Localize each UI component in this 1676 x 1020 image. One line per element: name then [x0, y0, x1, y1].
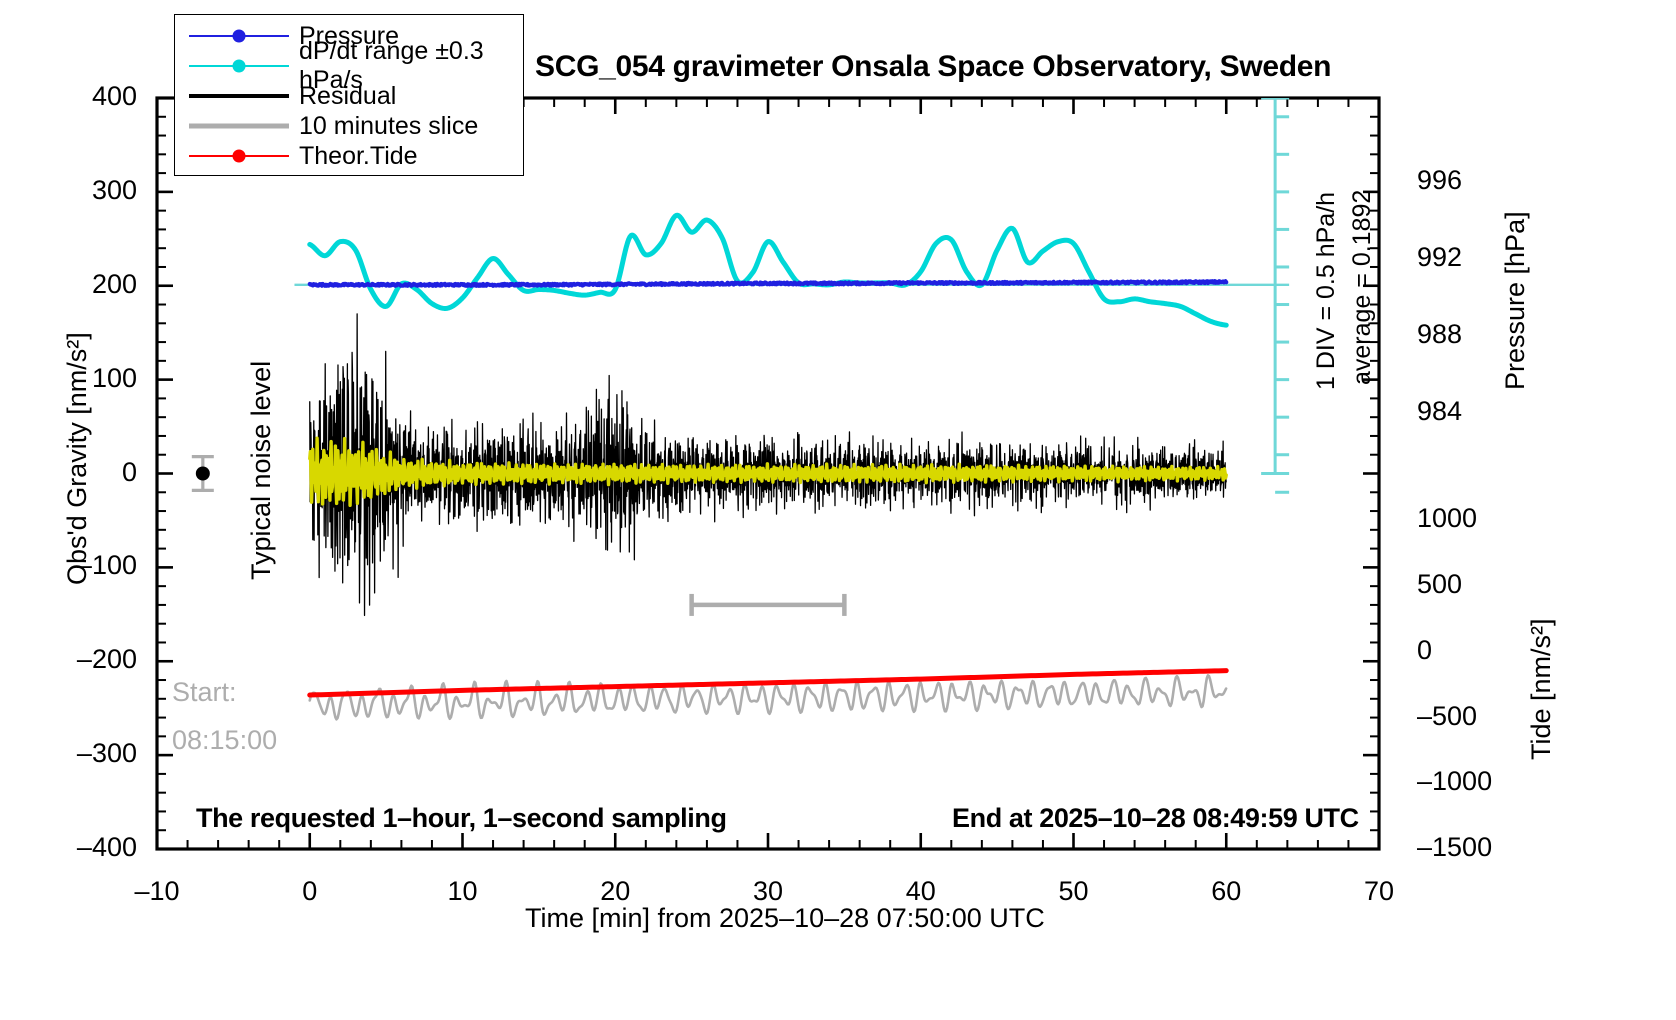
x-tick-label-1: 0 — [302, 876, 317, 907]
y-pressure-tick-label-1: 992 — [1417, 242, 1462, 273]
legend-label-2: Residual — [299, 82, 396, 111]
start-time: 08:15:00 — [172, 725, 277, 756]
y-left-tick-label-2: 200 — [92, 269, 137, 300]
y-left-tick-label-0: 400 — [92, 81, 137, 112]
x-tick-label-7: 60 — [1211, 876, 1241, 907]
y-pressure-tick-label-3: 984 — [1417, 396, 1462, 427]
legend-item-3: 10 minutes slice — [189, 111, 523, 141]
series-dpdt — [310, 215, 1227, 325]
legend-dot-icon — [233, 60, 246, 73]
y-left-axis-title: Obs'd Gravity [nm/s²] — [62, 332, 93, 585]
y-left-tick-label-3: 100 — [92, 363, 137, 394]
x-tick-label-6: 50 — [1058, 876, 1088, 907]
legend-dot-icon — [233, 150, 246, 163]
y-left-tick-label-7: –300 — [77, 738, 137, 769]
legend-line-icon — [189, 124, 289, 129]
series-pressure — [310, 281, 1227, 286]
y-right-tide-title: Tide [nm/s²] — [1526, 618, 1557, 760]
sampling-note: The requested 1–hour, 1–second sampling — [196, 803, 727, 834]
chart-title: SCG_054 gravimeter Onsala Space Observat… — [535, 50, 1331, 84]
y-pressure-tick-label-0: 996 — [1417, 165, 1462, 196]
y-tide-tick-label-4: –1000 — [1417, 766, 1492, 797]
y-tide-tick-label-2: 0 — [1417, 635, 1432, 666]
y-tide-tick-label-0: 1000 — [1417, 503, 1477, 534]
gravimeter-chart: –100102030405060704003002001000–100–200–… — [0, 0, 1676, 1020]
legend-item-4: Theor.Tide — [189, 141, 523, 171]
y-right-pressure-title: Pressure [hPa] — [1500, 211, 1531, 390]
legend-label-4: Theor.Tide — [299, 142, 418, 171]
y-tide-tick-label-3: –500 — [1417, 701, 1477, 732]
x-tick-label-2: 10 — [447, 876, 477, 907]
legend-swatch-2 — [189, 85, 289, 107]
typical-noise-label: Typical noise level — [246, 361, 277, 580]
slice-marker-bar — [692, 594, 845, 616]
legend: PressuredP/dt range ±0.3 hPa/sResidual10… — [174, 14, 524, 176]
series-theoretical-tide — [310, 671, 1227, 695]
y-pressure-tick-label-2: 988 — [1417, 319, 1462, 350]
dpdt-scale-note: 1 DIV = 0.5 hPa/h — [1312, 192, 1341, 390]
y-left-tick-label-6: –200 — [77, 644, 137, 675]
legend-swatch-3 — [189, 115, 289, 137]
y-left-tick-label-8: –400 — [77, 832, 137, 863]
x-tick-label-0: –10 — [134, 876, 179, 907]
legend-label-3: 10 minutes slice — [299, 112, 478, 141]
legend-swatch-4 — [189, 145, 289, 167]
x-tick-label-8: 70 — [1364, 876, 1394, 907]
x-axis-title: Time [min] from 2025–10–28 07:50:00 UTC — [525, 903, 1045, 934]
y-left-tick-label-1: 300 — [92, 175, 137, 206]
dpdt-average-note: average = 0.1892 — [1348, 190, 1377, 385]
start-label: Start: — [172, 677, 237, 708]
legend-swatch-0 — [189, 25, 289, 47]
y-tide-tick-label-5: –1500 — [1417, 832, 1492, 863]
y-tide-tick-label-1: 500 — [1417, 569, 1462, 600]
typical-noise-marker — [192, 457, 214, 491]
y-left-tick-label-4: 0 — [122, 457, 137, 488]
legend-swatch-1 — [189, 55, 289, 77]
legend-item-1: dP/dt range ±0.3 hPa/s — [189, 51, 523, 81]
end-note: End at 2025–10–28 08:49:59 UTC — [952, 803, 1359, 834]
legend-dot-icon — [233, 30, 246, 43]
legend-line-icon — [189, 94, 289, 98]
